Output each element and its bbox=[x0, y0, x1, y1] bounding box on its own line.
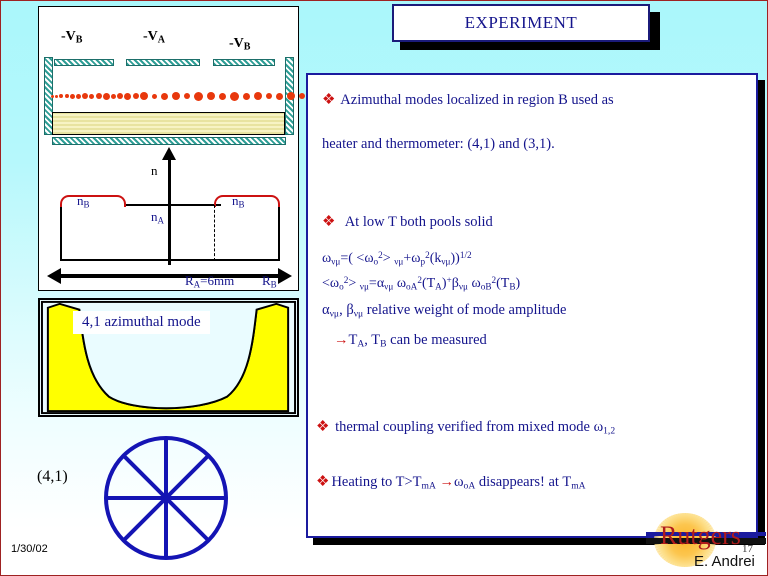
bullet-heating: ❖Heating to T>TmA →ωoA disappears! at Tm… bbox=[316, 475, 756, 491]
arrow-right-icon: → bbox=[334, 332, 349, 348]
profile-right-edge bbox=[278, 205, 280, 261]
electrode-label-va: -VA bbox=[143, 29, 165, 46]
bullet-icon: ❖ bbox=[316, 474, 329, 490]
bullet-low-t: ❖ At low T both pools solid bbox=[322, 215, 752, 230]
n-axis-label: n bbox=[151, 163, 158, 179]
n-axis bbox=[168, 157, 171, 265]
electrode-label-vb-left: -VB bbox=[61, 29, 82, 46]
rutgers-logo: Rutgers 17 E. Andrei bbox=[646, 513, 766, 575]
bullet-azimuthal-modes-text2: heater and thermometer: (4,1) and (3,1). bbox=[322, 136, 555, 152]
author-name: E. Andrei bbox=[694, 553, 755, 570]
bottom-plate bbox=[52, 137, 286, 145]
label-nb-left: nB bbox=[77, 193, 90, 209]
circle-spokes-svg bbox=[94, 433, 238, 563]
r-axis bbox=[59, 274, 280, 278]
title-box: EXPERIMENT bbox=[392, 4, 650, 42]
helium-film bbox=[52, 112, 285, 135]
label-radius-a: RA=6mm bbox=[185, 273, 234, 289]
equation-omega-numu: ωνμ=( <ωo2> νμ+ωp2(kνμ))1/2 bbox=[322, 250, 752, 267]
arrow-right-icon: → bbox=[439, 474, 454, 490]
page-title: EXPERIMENT bbox=[465, 13, 578, 33]
text-panel: ❖ Azimuthal modes localized in region B … bbox=[306, 73, 758, 538]
profile-cap-right bbox=[214, 195, 280, 207]
bullet-azimuthal-modes-text: Azimuthal modes localized in region B us… bbox=[340, 92, 613, 108]
bullet-low-t-text: At low T both pools solid bbox=[345, 214, 493, 230]
label-radius-b: RB bbox=[262, 273, 277, 289]
top-plate-b-left bbox=[54, 59, 114, 66]
electron-layer bbox=[51, 89, 287, 103]
bullet-icon: ❖ bbox=[316, 419, 329, 435]
bullet-thermal-coupling: ❖ thermal coupling verified from mixed m… bbox=[316, 420, 756, 436]
logo-wordmark: Rutgers bbox=[660, 521, 741, 551]
electrode-label-vb-right: -VB bbox=[229, 36, 250, 53]
top-plate-a bbox=[126, 59, 200, 66]
slide-date: 1/30/02 bbox=[11, 543, 48, 555]
r-axis-arrow-left-icon bbox=[47, 268, 61, 284]
profile-cap-left bbox=[60, 195, 126, 207]
top-plate-b-right bbox=[213, 59, 275, 66]
profile-baseline bbox=[60, 259, 280, 261]
label-na: nA bbox=[151, 209, 164, 225]
line-can-be-measured: →TA, TB can be measured bbox=[334, 333, 764, 349]
bullet-icon: ❖ bbox=[322, 214, 335, 230]
profile-left-edge bbox=[60, 205, 62, 261]
radius-a-dashed-line bbox=[214, 205, 215, 261]
bullet-azimuthal-modes: ❖ Azimuthal modes localized in region B … bbox=[322, 93, 752, 108]
cell-schematic-diagram: -VB -VA -VB n nB bbox=[38, 6, 299, 291]
profile-region-a bbox=[125, 204, 221, 206]
circle-diagram-label: (4,1) bbox=[37, 468, 68, 486]
slide-canvas: EXPERIMENT -VB -VA -VB n bbox=[0, 0, 768, 576]
azimuthal-mode-circle bbox=[94, 433, 238, 563]
density-profile-plot: n nB nA nB RA=6mm RB bbox=[47, 147, 292, 287]
bullet-azimuthal-modes-line2: heater and thermometer: (4,1) and (3,1). bbox=[322, 137, 752, 152]
label-nb-right: nB bbox=[232, 193, 245, 209]
r-axis-arrow-right-icon bbox=[278, 268, 292, 284]
mode-image-caption: 4,1 azimuthal mode bbox=[73, 311, 210, 334]
equation-omega-o-squared: <ωo2> νμ=ανμ ωoA2(TA)+βνμ ωoB2(TB) bbox=[322, 275, 752, 292]
line-relative-weight: ανμ, βνμ relative weight of mode amplitu… bbox=[322, 303, 752, 319]
bullet-icon: ❖ bbox=[322, 92, 335, 108]
